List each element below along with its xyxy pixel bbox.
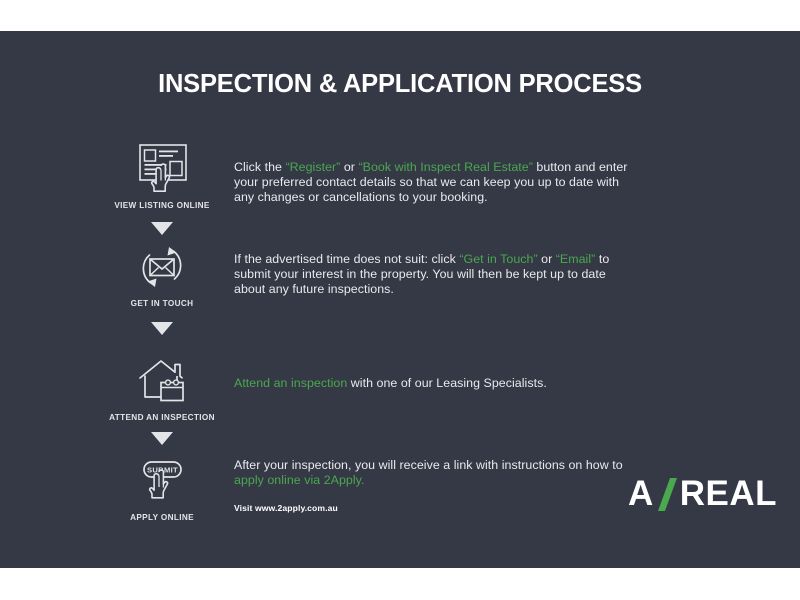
step-2-icon-column: GET IN TOUCH: [92, 238, 232, 308]
step-4-icon-column: SUBMIT APPLY ONLINE: [92, 452, 232, 522]
step-1-link-register[interactable]: “Register”: [285, 160, 340, 174]
step-3-icon-column: ATTEND AN INSPECTION: [92, 352, 232, 422]
brand-logo: A REAL: [628, 474, 777, 514]
step-3-text-part-1: with one of our Leasing Specialists.: [347, 376, 547, 390]
step-4-label: APPLY ONLINE: [92, 513, 232, 522]
step-2-text: If the advertised time does not suit: cl…: [234, 252, 634, 298]
connector-arrow-3: [92, 432, 232, 445]
step-1-text: Click the “Register” or “Book with Inspe…: [234, 160, 634, 206]
step-2-link-get-in-touch[interactable]: “Get in Touch”: [459, 252, 537, 266]
house-calendar-icon: [92, 352, 232, 410]
step-3-text: Attend an inspection with one of our Lea…: [234, 376, 634, 391]
envelope-refresh-icon: [92, 238, 232, 296]
step-2-text-part-2: or: [538, 252, 556, 266]
step-4-link-apply-2apply[interactable]: apply online via 2Apply.: [234, 473, 364, 487]
logo-slash-icon: [658, 477, 678, 511]
step-4-text: After your inspection, you will receive …: [234, 458, 634, 517]
step-1-text-part-1: Click the: [234, 160, 285, 174]
step-3-label: ATTEND AN INSPECTION: [92, 413, 232, 422]
step-3-link-attend-inspection[interactable]: Attend an inspection: [234, 376, 347, 390]
connector-arrow-1: [92, 222, 232, 235]
step-1-icon-column: VIEW LISTING ONLINE: [92, 140, 232, 210]
page-title: INSPECTION & APPLICATION PROCESS: [0, 70, 800, 99]
step-2-label: GET IN TOUCH: [92, 299, 232, 308]
logo-letter-a: A: [628, 474, 654, 514]
slide-canvas: INSPECTION & APPLICATION PROCESS VIEW LI: [0, 0, 800, 600]
step-4-note: Visit www.2apply.com.au: [234, 501, 634, 516]
listing-page-click-icon: [92, 140, 232, 198]
connector-arrow-2: [92, 322, 232, 335]
step-1-link-book-ire[interactable]: “Book with Inspect Real Estate”: [358, 160, 532, 174]
step-4-text-part-1: After your inspection, you will receive …: [234, 458, 623, 472]
logo-word-real: REAL: [680, 474, 777, 514]
step-1-label: VIEW LISTING ONLINE: [92, 201, 232, 210]
submit-button-click-icon: SUBMIT: [92, 452, 232, 510]
step-2-link-email[interactable]: “Email”: [556, 252, 596, 266]
step-2-text-part-1: If the advertised time does not suit: cl…: [234, 252, 459, 266]
step-1-text-part-2: or: [340, 160, 358, 174]
